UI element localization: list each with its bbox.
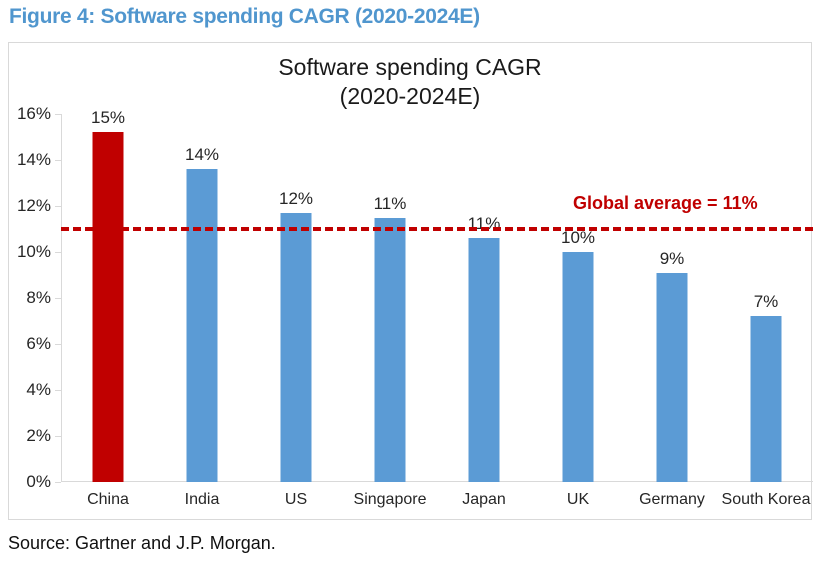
bar[interactable] [281, 213, 312, 482]
x-axis-category-label: China [87, 491, 129, 509]
y-axis-tick-label: 0% [26, 472, 51, 492]
bar-group: 11%Japan [437, 114, 531, 482]
bar-value-label: 15% [91, 108, 125, 128]
x-axis-category-label: South Korea [722, 491, 811, 509]
x-axis-category-label: Germany [639, 491, 705, 509]
y-axis-tick [55, 482, 61, 483]
bar-group: 14%India [155, 114, 249, 482]
bar[interactable] [751, 316, 782, 482]
average-reference-line [61, 227, 813, 231]
chart-title-line1: Software spending CAGR [278, 54, 541, 80]
bar-group: 15%China [61, 114, 155, 482]
plot-area: 0%2%4%6%8%10%12%14%16% 15%China14%India1… [61, 114, 813, 482]
bar-value-label: 14% [185, 145, 219, 165]
bar-value-label: 9% [660, 249, 685, 269]
y-axis-tick-label: 16% [17, 104, 51, 124]
figure-heading: Figure 4: Software spending CAGR (2020-2… [9, 5, 480, 29]
y-axis-tick-label: 12% [17, 196, 51, 216]
chart-title: Software spending CAGR (2020-2024E) [9, 53, 811, 112]
bar-group: 10%UK [531, 114, 625, 482]
chart-title-line2: (2020-2024E) [9, 82, 811, 111]
bar-group: 9%Germany [625, 114, 719, 482]
y-axis-tick-label: 6% [26, 334, 51, 354]
bar[interactable] [657, 273, 688, 482]
bar[interactable] [563, 252, 594, 482]
y-axis-tick-label: 4% [26, 380, 51, 400]
x-axis-category-label: UK [567, 491, 589, 509]
bar-value-label: 11% [374, 194, 407, 214]
bar-group: 11%Singapore [343, 114, 437, 482]
x-axis-category-label: Japan [462, 491, 506, 509]
source-note: Source: Gartner and J.P. Morgan. [8, 533, 276, 554]
bar[interactable] [469, 238, 500, 482]
y-axis-tick-label: 14% [17, 150, 51, 170]
x-axis-category-label: US [285, 491, 307, 509]
bar-value-label: 11% [468, 214, 501, 234]
y-axis-tick-label: 10% [17, 242, 51, 262]
y-axis-tick-label: 8% [26, 288, 51, 308]
bar[interactable] [93, 132, 124, 482]
chart-container: Software spending CAGR (2020-2024E) 0%2%… [8, 42, 812, 520]
x-axis-category-label: India [185, 491, 220, 509]
bar-value-label: 7% [754, 292, 779, 312]
bar-group: 12%US [249, 114, 343, 482]
x-axis-category-label: Singapore [354, 491, 427, 509]
bar[interactable] [187, 169, 218, 482]
y-axis-tick-label: 2% [26, 426, 51, 446]
bar-value-label: 12% [279, 189, 313, 209]
average-reference-label: Global average = 11% [573, 193, 758, 214]
bar-value-label: 10% [561, 228, 595, 248]
bar-group: 7%South Korea [719, 114, 813, 482]
bar[interactable] [375, 218, 406, 483]
